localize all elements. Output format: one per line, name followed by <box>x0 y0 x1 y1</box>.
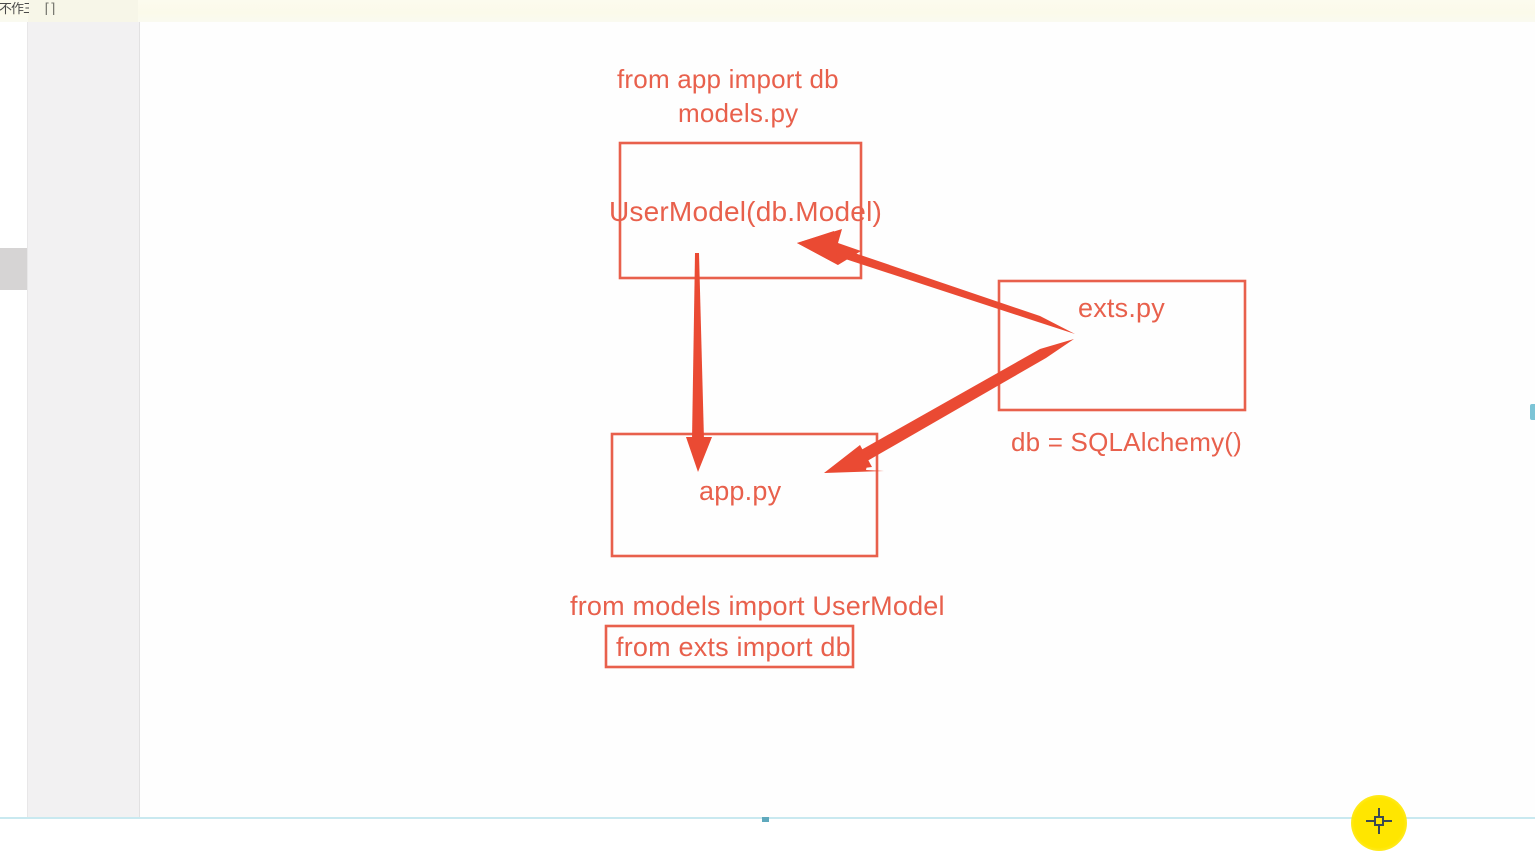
right-edge-scroll-thumb[interactable] <box>1530 404 1535 420</box>
bottom-scrollbar-thumb[interactable] <box>762 817 769 822</box>
ime-indicator-text: 不作三 <box>0 0 29 17</box>
vertical-scrollbar-thumb[interactable] <box>0 248 27 290</box>
application-root: ⌈⌉ 不作三 <box>0 0 1535 834</box>
text-caret-icon: ⌈⌉ <box>42 1 58 17</box>
crosshair-cursor-icon <box>1366 808 1392 834</box>
whiteboard-canvas[interactable] <box>139 22 1535 819</box>
sidebar-panel[interactable] <box>27 22 140 819</box>
top-toolbar-band <box>0 0 1535 22</box>
left-edge-strip <box>0 0 27 834</box>
